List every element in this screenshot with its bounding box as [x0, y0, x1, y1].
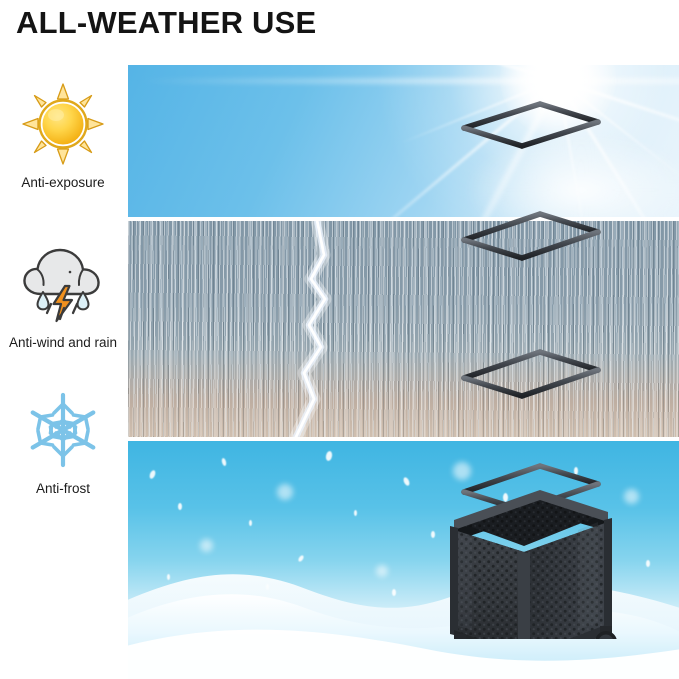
- lightning-bolt-icon: [128, 221, 679, 437]
- feature-item-anti-wind-and-rain: Anti-wind and rain: [0, 238, 126, 352]
- feature-item-anti-frost: Anti-frost: [0, 384, 126, 498]
- feature-label-anti-wind-and-rain: Anti-wind and rain: [0, 334, 126, 352]
- weather-scene-panels: [128, 65, 679, 617]
- panel-rain: [128, 221, 679, 437]
- snow-drift: [128, 546, 679, 679]
- feature-list: Anti-exposure: [0, 62, 126, 622]
- panel-snow: [128, 441, 679, 679]
- feature-item-anti-exposure: Anti-exposure: [0, 78, 126, 192]
- page-title: ALL-WEATHER USE: [16, 0, 316, 46]
- panel-sunny: [128, 65, 679, 217]
- sun-icon: [0, 78, 126, 170]
- feature-label-anti-exposure: Anti-exposure: [0, 174, 126, 192]
- feature-label-anti-frost: Anti-frost: [0, 480, 126, 498]
- all-weather-use-infographic: ALL-WEATHER USE: [0, 0, 679, 639]
- snowflake-icon: [0, 384, 126, 476]
- cloud-rain-lightning-icon: [0, 238, 126, 330]
